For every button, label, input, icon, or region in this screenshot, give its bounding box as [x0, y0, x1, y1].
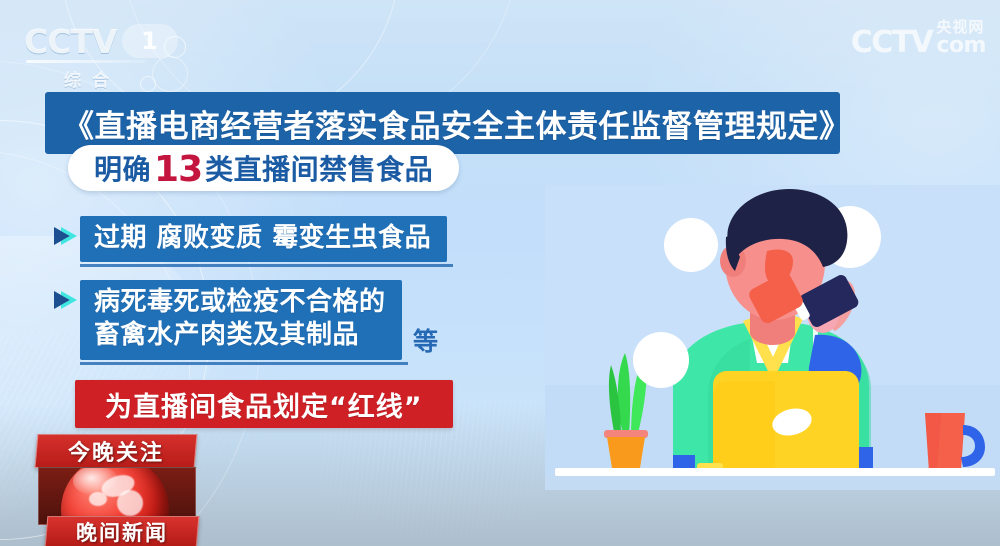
channel-number-badge: 1 — [122, 24, 178, 58]
triangle-right-icon — [52, 225, 78, 247]
subtitle-pill: 明确 13 类直播间禁售食品 — [68, 145, 459, 191]
laptop — [697, 371, 859, 477]
red-line-banner-text: 为直播间食品划定“红线” — [105, 385, 423, 424]
triangle-right-icon — [52, 289, 78, 311]
cctv-com-watermark: CCTV 央视网 com — [851, 20, 986, 57]
program-bug-bottom-banner: 晚间新闻 — [45, 516, 200, 546]
desk-line — [555, 468, 995, 476]
bullet-item-2: 病死毒死或检疫不合格的 畜禽水产肉类及其制品 — [52, 280, 402, 360]
decorative-circle — [664, 218, 718, 272]
program-bug-bottom-label: 晚间新闻 — [76, 517, 168, 546]
subtitle-number: 13 — [154, 149, 202, 190]
broadcast-frame: CCTV 1 综合 CCTV 央视网 com 《直播电商经营者落实食品安全主体责… — [0, 0, 1000, 546]
program-bug: 今晚关注 晚间新闻 — [24, 434, 204, 546]
decorative-circle — [633, 332, 689, 388]
cctv-channel-logo: CCTV 1 综合 — [24, 24, 204, 86]
watermark-cctv-text: CCTV — [851, 29, 933, 58]
globe-highlight — [73, 467, 119, 496]
subtitle-prefix: 明确 — [94, 148, 151, 188]
bullet-line: 畜禽水产肉类及其制品 — [94, 319, 386, 352]
cctv-wordmark: CCTV — [24, 25, 117, 58]
subtitle-suffix: 类直播间禁售食品 — [205, 148, 433, 188]
bullet-item-1: 过期 腐败变质 霉变生虫食品 — [52, 216, 447, 262]
bullet-box-1: 过期 腐败变质 霉变生虫食品 — [80, 216, 447, 262]
watermark-com-text: com — [936, 35, 986, 57]
bullet-line: 过期 腐败变质 霉变生虫食品 — [94, 222, 431, 255]
red-line-banner: 为直播间食品划定“红线” — [75, 380, 453, 428]
livestream-host-illustration — [545, 185, 1000, 490]
program-bug-top-banner: 今晚关注 — [35, 434, 198, 468]
headline-text: 《直播电商经营者落实食品安全主体责任监督管理规定》 — [63, 101, 851, 146]
bullet-box-2: 病死毒死或检疫不合格的 畜禽水产肉类及其制品 — [80, 280, 402, 360]
program-bug-top-label: 今晚关注 — [68, 435, 164, 467]
etc-marker: 等 — [413, 322, 438, 358]
bullet-line: 病死毒死或检疫不合格的 — [94, 286, 386, 319]
channel-subtitle: 综合 — [64, 66, 204, 91]
